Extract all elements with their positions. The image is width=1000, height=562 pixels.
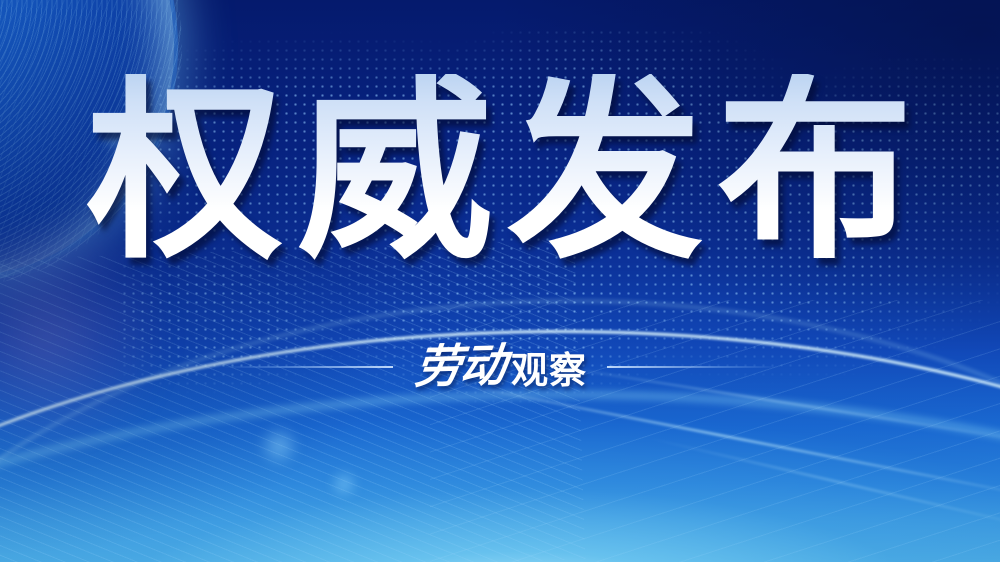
brand-rule-right <box>607 366 779 368</box>
brand-wordmark-cursive: 劳动 <box>413 342 508 390</box>
brand-lockup: 劳动 观察 <box>0 344 1000 390</box>
banner-content: 权威发布 劳动 观察 <box>0 0 1000 562</box>
brand-rule-left <box>221 366 393 368</box>
authoritative-release-banner: 权威发布 劳动 观察 <box>0 0 1000 562</box>
brand-wordmark-regular: 观察 <box>511 352 587 389</box>
page-title: 权威发布 <box>73 74 927 270</box>
brand-wordmark: 劳动 观察 <box>413 344 587 390</box>
